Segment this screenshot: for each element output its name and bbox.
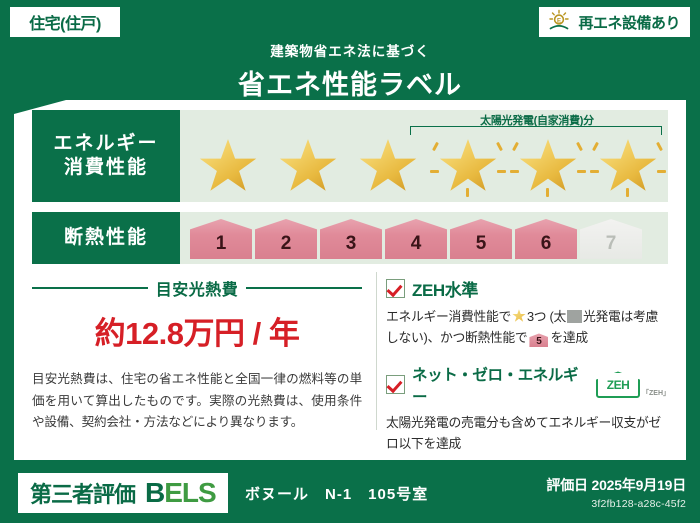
- bels-letter-b: B: [145, 477, 164, 508]
- cost-note: 目安光熱費は、住宅の省エネ性能と全国一律の燃料等の単価を用いて算出したものです。…: [32, 369, 362, 434]
- utility-cost-block: 目安光熱費 約12.8万円 / 年 目安光熱費は、住宅の省エネ性能と全国一律の燃…: [32, 276, 362, 434]
- inline-grade-badge: 5: [529, 333, 548, 347]
- star-icon: [358, 138, 418, 196]
- zeh-text-b: 3つ (太: [527, 309, 566, 324]
- grade-badge: 1: [190, 219, 252, 259]
- grade-badge: 3: [320, 219, 382, 259]
- star-icon: [512, 309, 526, 323]
- star-rating: [190, 132, 666, 198]
- star-item: [350, 132, 426, 198]
- sun-solar-icon: E: [547, 9, 571, 36]
- renewable-chip-label: 再エネ設備あり: [578, 12, 680, 33]
- star-item: [190, 132, 266, 198]
- star-icon: [198, 138, 258, 196]
- zeh-house-icon: ZEH: [596, 371, 640, 398]
- zeh-text-d: を達成: [550, 330, 588, 345]
- star-item: [270, 132, 346, 198]
- category-chip: 住宅(住戸): [10, 7, 120, 37]
- zeh-standard-title: ZEH水準: [412, 276, 478, 301]
- insulation-label-key: 断熱性能: [32, 212, 180, 264]
- bels-jp-label: 第三者評価: [30, 477, 135, 509]
- zeh-standard-item: ZEH水準 エネルギー消費性能で3つ (太光発電は考慮しない)、かつ断熱性能で5…: [386, 276, 670, 349]
- label-id: 3f2fb128-a28c-45f2: [546, 498, 686, 510]
- star-item-solar: [430, 132, 506, 198]
- evaluation-date: 評価日 2025年9月19日: [546, 475, 686, 495]
- insulation-performance-value: 1 2 3 4 5 6 7: [180, 212, 668, 264]
- net-zero-energy-item: ネット・ゼロ・エネルギー ZEH 「ZEH」 太陽光発電の売電分も含めてエネルギ…: [386, 363, 670, 455]
- net-zero-head: ネット・ゼロ・エネルギー ZEH 「ZEH」: [386, 363, 670, 407]
- energy-performance-label-key: エネルギー 消費性能: [32, 110, 180, 202]
- check-icon: [386, 375, 405, 394]
- zeh-logo-caption: 「ZEH」: [642, 388, 670, 398]
- bels-badge: 第三者評価 BELS: [18, 473, 228, 513]
- star-icon: [278, 138, 338, 196]
- renewable-energy-chip: E 再エネ設備あり: [539, 7, 690, 37]
- energy-label-line2: 消費性能: [64, 156, 148, 180]
- grade-badge-inactive: 7: [580, 219, 642, 259]
- footer-meta: 評価日 2025年9月19日 3f2fb128-a28c-45f2: [546, 475, 686, 510]
- grade-badge: 6: [515, 219, 577, 259]
- star-item-solar: [590, 132, 666, 198]
- footer: 第三者評価 BELS ボヌール N-1 105号室 評価日 2025年9月19日…: [0, 465, 700, 523]
- grade-badge: 4: [385, 219, 447, 259]
- rule-right: [246, 287, 362, 289]
- label-card: エネルギー 消費性能 太陽光発電(自家消費)分: [14, 100, 686, 460]
- zeh-text-a: エネルギー消費性能で: [386, 309, 511, 324]
- energy-performance-row: エネルギー 消費性能 太陽光発電(自家消費)分: [32, 110, 668, 202]
- rule-left: [32, 287, 148, 289]
- insulation-performance-row: 断熱性能 1 2 3 4 5 6 7: [32, 212, 668, 264]
- building-name: ボヌール N-1 105号室: [245, 483, 428, 504]
- grade-badge: 5: [450, 219, 512, 259]
- star-item-solar: [510, 132, 586, 198]
- title-subtitle: 建築物省エネ法に基づく: [0, 40, 700, 60]
- redaction-block: [567, 310, 582, 323]
- vertical-divider: [376, 272, 377, 430]
- cost-heading: 目安光熱費: [156, 276, 239, 300]
- grade-scale: 1 2 3 4 5 6 7: [190, 219, 642, 259]
- page-title: 省エネ性能ラベル: [0, 63, 700, 102]
- zeh-block: ZEH水準 エネルギー消費性能で3つ (太光発電は考慮しない)、かつ断熱性能で5…: [386, 276, 670, 469]
- cost-heading-row: 目安光熱費: [32, 276, 362, 300]
- energy-label-line1: エネルギー: [53, 132, 158, 156]
- bels-letters-els: ELS: [164, 477, 215, 508]
- svg-text:E: E: [557, 18, 561, 24]
- cost-amount: 約12.8万円 / 年: [32, 308, 362, 353]
- title-block: 建築物省エネ法に基づく 省エネ性能ラベル: [0, 40, 700, 102]
- bels-en-label: BELS: [145, 479, 216, 507]
- net-zero-title: ネット・ゼロ・エネルギー: [412, 363, 585, 407]
- net-zero-body: 太陽光発電の売電分も含めてエネルギー収支がゼロ以下を達成: [386, 412, 670, 455]
- energy-performance-label: 住宅(住戸) E 再エネ設備あり 建築物省エネ法に基づく 省エネ性能ラベル: [0, 0, 700, 523]
- check-icon: [386, 279, 405, 298]
- grade-badge: 2: [255, 219, 317, 259]
- zeh-logo: ZEH 「ZEH」: [596, 371, 670, 398]
- energy-performance-value: 太陽光発電(自家消費)分: [180, 110, 668, 202]
- zeh-standard-head: ZEH水準: [386, 276, 670, 301]
- zeh-standard-body: エネルギー消費性能で3つ (太光発電は考慮しない)、かつ断熱性能で5を達成: [386, 306, 670, 349]
